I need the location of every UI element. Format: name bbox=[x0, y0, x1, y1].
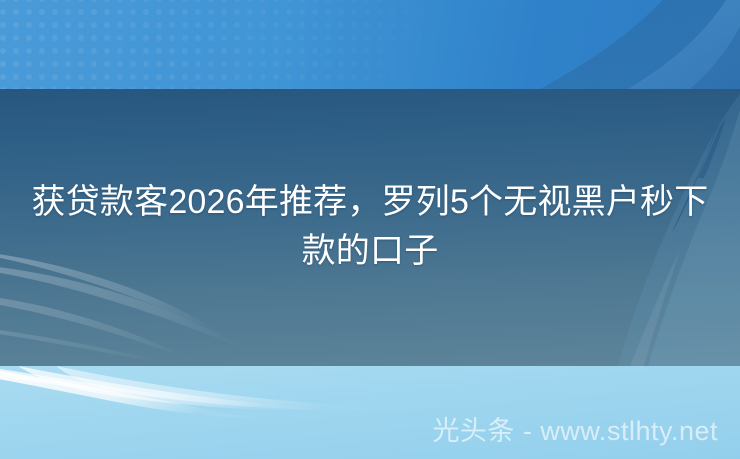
background-band-top bbox=[0, 0, 740, 89]
dot-grid-texture bbox=[0, 0, 470, 89]
cover-title: 获贷款客2026年推荐，罗列5个无视黑户秒下款的口子 bbox=[28, 178, 712, 276]
title-block: 获贷款客2026年推荐，罗列5个无视黑户秒下款的口子 bbox=[0, 178, 740, 276]
cover-image: 获贷款客2026年推荐，罗列5个无视黑户秒下款的口子 光头条 - www.stl… bbox=[0, 0, 740, 459]
site-watermark: 光头条 - www.stlhty.net bbox=[432, 416, 718, 446]
